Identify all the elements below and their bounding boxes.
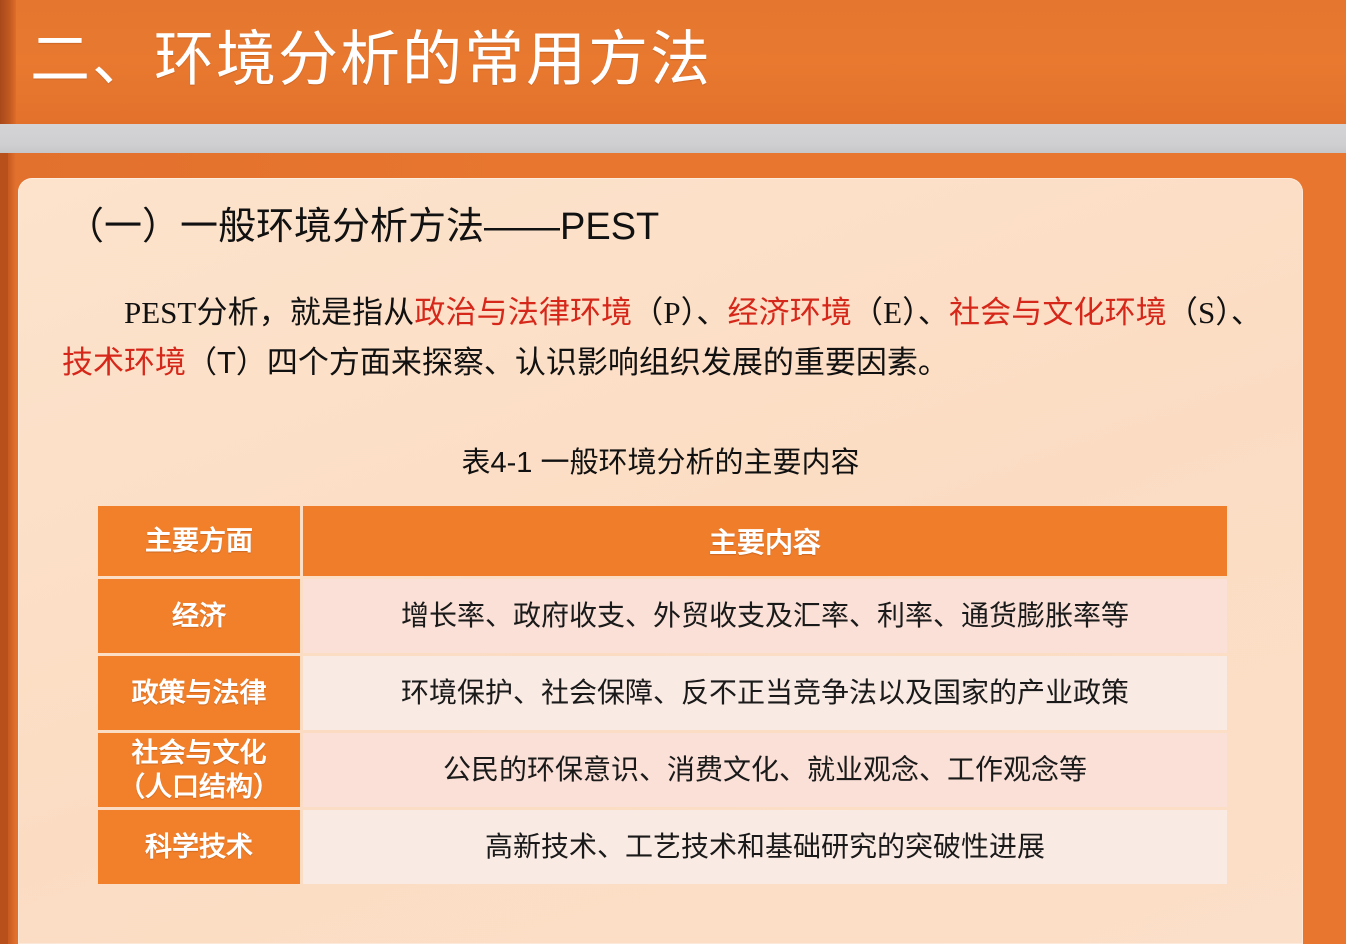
- section-heading: （一）一般环境分析方法——PEST: [66, 202, 659, 252]
- table-row: 社会与文化（人口结构） 公民的环保意识、消费文化、就业观念、工作观念等: [98, 733, 1227, 807]
- environment-analysis-table: 主要方面 主要内容 经济 增长率、政府收支、外贸收支及汇率、利率、通货膨胀率等 …: [95, 503, 1230, 887]
- table-row: 经济 增长率、政府收支、外贸收支及汇率、利率、通货膨胀率等: [98, 579, 1227, 653]
- paragraph-text-5: （T）四个方面来探察、认识影响组织发展的重要因素。: [186, 345, 949, 380]
- table-cell-aspect: 经济: [98, 579, 300, 653]
- table-body: 主要方面 主要内容 经济 增长率、政府收支、外贸收支及汇率、利率、通货膨胀率等 …: [98, 506, 1227, 884]
- table-header-aspect: 主要方面: [98, 506, 300, 576]
- header-divider-band: [0, 124, 1346, 153]
- paragraph-highlight-political: 政治与法律环境: [414, 295, 632, 330]
- paragraph-highlight-technology: 技术环境: [62, 345, 186, 380]
- slide-header-band: 二、环境分析的常用方法: [0, 0, 1346, 124]
- table-row: 科学技术 高新技术、工艺技术和基础研究的突破性进展: [98, 810, 1227, 884]
- table-row: 政策与法律 环境保护、社会保障、反不正当竞争法以及国家的产业政策: [98, 656, 1227, 730]
- slide-root: 二、环境分析的常用方法 （一）一般环境分析方法——PEST PEST分析，就是指…: [0, 0, 1346, 944]
- slide-title: 二、环境分析的常用方法: [30, 18, 712, 102]
- paragraph-text-2: （P）、: [632, 295, 727, 330]
- paragraph-text-3: （E）、: [852, 295, 949, 330]
- table-cell-content: 环境保护、社会保障、反不正当竞争法以及国家的产业政策: [303, 656, 1227, 730]
- table-cell-aspect: 科学技术: [98, 810, 300, 884]
- table-cell-aspect: 社会与文化（人口结构）: [98, 733, 300, 807]
- table-header-content: 主要内容: [303, 506, 1227, 576]
- table-cell-content: 增长率、政府收支、外贸收支及汇率、利率、通货膨胀率等: [303, 579, 1227, 653]
- body-paragraph: PEST分析，就是指从政治与法律环境（P）、经济环境（E）、社会与文化环境（S）…: [62, 288, 1262, 388]
- paragraph-highlight-social: 社会与文化环境: [949, 295, 1167, 330]
- table-cell-content: 高新技术、工艺技术和基础研究的突破性进展: [303, 810, 1227, 884]
- paragraph-text-1: 分析，就是指从: [196, 295, 414, 330]
- content-card: （一）一般环境分析方法——PEST PEST分析，就是指从政治与法律环境（P）、…: [18, 178, 1303, 944]
- paragraph-pest-label: PEST: [124, 295, 196, 330]
- paragraph-highlight-economic: 经济环境: [728, 295, 853, 330]
- table-header-row: 主要方面 主要内容: [98, 506, 1227, 576]
- table-cell-content: 公民的环保意识、消费文化、就业观念、工作观念等: [303, 733, 1227, 807]
- table-caption: 表4-1 一般环境分析的主要内容: [18, 444, 1303, 482]
- paragraph-text-4: （S）、: [1167, 295, 1262, 330]
- table-cell-aspect: 政策与法律: [98, 656, 300, 730]
